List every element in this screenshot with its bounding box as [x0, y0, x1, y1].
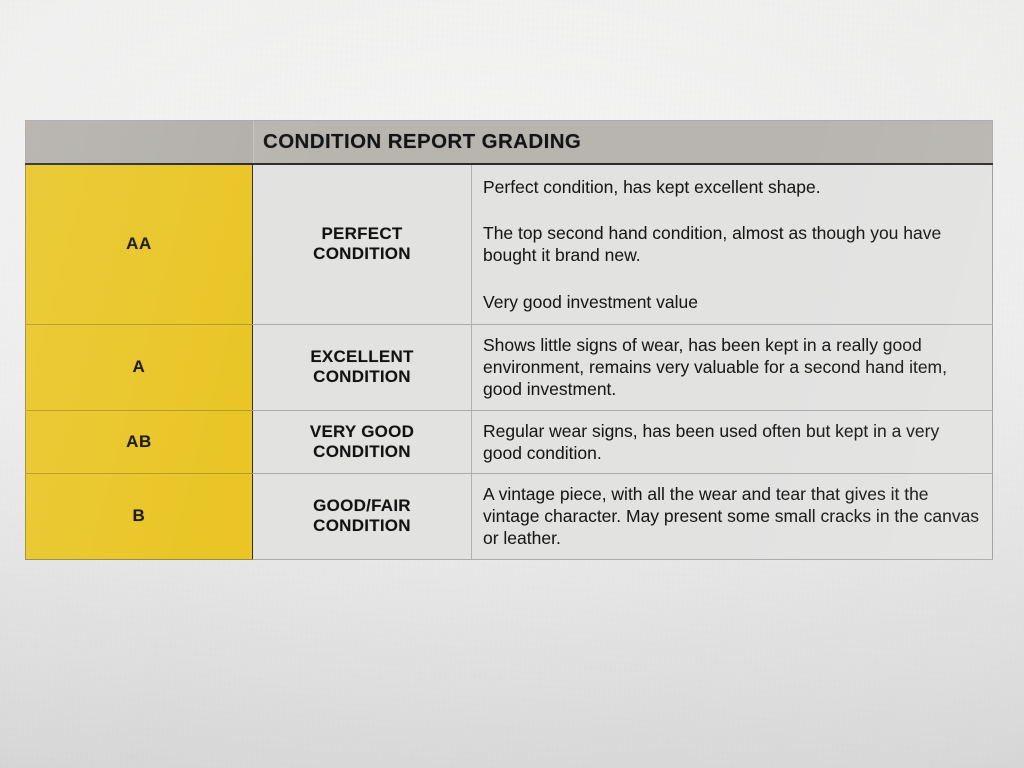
grade-cell-b: B	[26, 473, 253, 559]
table-header-row: CONDITION REPORT GRADING	[26, 121, 993, 165]
condition-label-line2: CONDITION	[261, 367, 463, 387]
table-row: A EXCELLENT CONDITION Shows little signs…	[26, 324, 993, 410]
description-paragraph: Perfect condition, has kept excellent sh…	[483, 176, 980, 198]
description-cell-a: Shows little signs of wear, has been kep…	[472, 324, 993, 410]
description-paragraph: Regular wear signs, has been used often …	[483, 420, 980, 464]
grade-label: AA	[126, 234, 152, 253]
condition-label-line2: CONDITION	[261, 516, 463, 536]
condition-label-line1: PERFECT	[261, 224, 463, 244]
table-header: CONDITION REPORT GRADING	[26, 121, 993, 165]
grade-label: AB	[126, 432, 152, 451]
condition-report-grading-table: CONDITION REPORT GRADING AA PERFECT COND…	[25, 120, 993, 560]
grade-label: B	[133, 506, 146, 525]
description-cell-ab: Regular wear signs, has been used often …	[472, 410, 993, 473]
table-row: AB VERY GOOD CONDITION Regular wear sign…	[26, 410, 993, 473]
condition-cell-a: EXCELLENT CONDITION	[253, 324, 472, 410]
condition-label-line1: VERY GOOD	[261, 422, 463, 442]
description-paragraph: Very good investment value	[483, 291, 980, 313]
condition-label-line1: GOOD/FAIR	[261, 496, 463, 516]
grade-label: A	[133, 357, 146, 376]
grade-cell-ab: AB	[26, 410, 253, 473]
condition-cell-b: GOOD/FAIR CONDITION	[253, 473, 472, 559]
page-title: CONDITION REPORT GRADING	[263, 130, 581, 154]
table-row: AA PERFECT CONDITION Perfect condition, …	[26, 164, 993, 324]
condition-cell-ab: VERY GOOD CONDITION	[253, 410, 472, 473]
table-title-band: CONDITION REPORT GRADING	[254, 121, 992, 163]
grade-cell-aa: AA	[26, 164, 253, 324]
table-row: B GOOD/FAIR CONDITION A vintage piece, w…	[26, 473, 993, 559]
description-cell-b: A vintage piece, with all the wear and t…	[472, 473, 993, 559]
condition-cell-aa: PERFECT CONDITION	[253, 164, 472, 324]
table-title-left-spacer	[26, 121, 254, 163]
table-title-cell: CONDITION REPORT GRADING	[26, 121, 993, 165]
grade-cell-a: A	[26, 324, 253, 410]
condition-label-line2: CONDITION	[261, 442, 463, 462]
table-body: AA PERFECT CONDITION Perfect condition, …	[26, 164, 993, 559]
condition-label-line2: CONDITION	[261, 244, 463, 264]
condition-label-line1: EXCELLENT	[261, 347, 463, 367]
description-paragraph: A vintage piece, with all the wear and t…	[483, 483, 980, 550]
description-cell-aa: Perfect condition, has kept excellent sh…	[472, 164, 993, 324]
description-paragraph: The top second hand condition, almost as…	[483, 222, 980, 266]
condition-report-table-container: CONDITION REPORT GRADING AA PERFECT COND…	[25, 120, 993, 560]
description-paragraph: Shows little signs of wear, has been kep…	[483, 334, 980, 401]
